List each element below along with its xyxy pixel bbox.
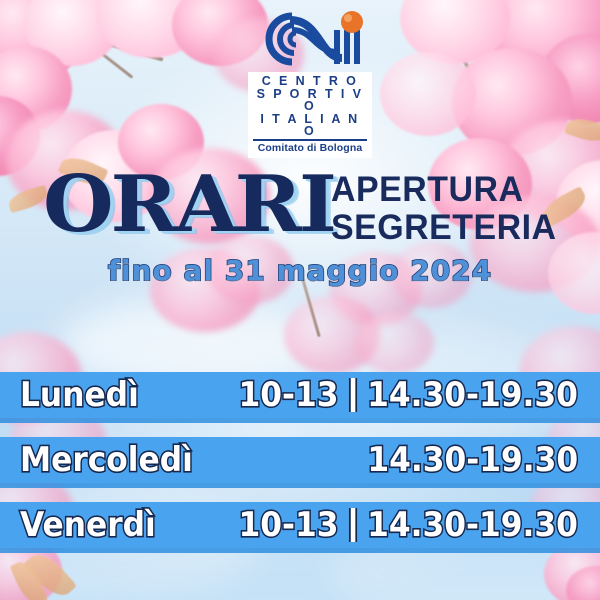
schedule-separator-icon xyxy=(349,508,357,542)
title-row: ORARI APERTURA SEGRETERIA xyxy=(0,168,600,245)
csi-line-centro: C E N T R O xyxy=(253,75,367,88)
title-block: ORARI APERTURA SEGRETERIA fino al 31 mag… xyxy=(0,168,600,286)
schedule-day-label: Lunedì xyxy=(20,378,139,412)
schedule-hours: 10-13 14.30-19.30 xyxy=(239,378,578,412)
schedule-morning-hours: 10-13 xyxy=(239,378,339,412)
schedule-separator-icon xyxy=(349,378,357,412)
validity-subtitle: fino al 31 maggio 2024 xyxy=(0,256,600,286)
csi-line-sportivo: S P O R T I V O xyxy=(253,88,367,113)
csi-wordmark-plate: C E N T R O S P O R T I V O I T A L I A … xyxy=(248,72,372,158)
title-apertura: APERTURA xyxy=(331,172,557,207)
schedule-row: Venerdì 10-13 14.30-19.30 xyxy=(0,502,600,548)
schedule-row: Lunedì 10-13 14.30-19.30 xyxy=(0,372,600,418)
title-secondary: APERTURA SEGRETERIA xyxy=(331,172,564,245)
blossom-cluster xyxy=(356,312,434,374)
schedule-day-label: Mercoledì xyxy=(20,443,193,477)
schedule-afternoon-hours: 14.30-19.30 xyxy=(367,378,578,412)
csi-committee-label: Comitato di Bologna xyxy=(253,142,367,154)
csi-monogram-icon xyxy=(248,8,372,70)
csi-line-italiano: I T A L I A N O xyxy=(253,113,367,138)
schedule-morning-hours: 10-13 xyxy=(239,508,339,542)
schedule-hours: 10-13 14.30-19.30 xyxy=(239,508,578,542)
divider xyxy=(253,139,367,141)
page-title: ORARI xyxy=(43,168,334,242)
schedule-afternoon-hours: 14.30-19.30 xyxy=(367,443,578,477)
schedule-list: Lunedì 10-13 14.30-19.30 Mercoledì 14.30… xyxy=(0,372,600,567)
blossom-cluster xyxy=(380,52,476,136)
orange-sphere-icon xyxy=(341,11,363,33)
schedule-hours: 14.30-19.30 xyxy=(367,443,578,477)
csi-logo: C E N T R O S P O R T I V O I T A L I A … xyxy=(248,8,372,158)
title-segreteria: SEGRETERIA xyxy=(331,210,557,245)
poster-canvas: C E N T R O S P O R T I V O I T A L I A … xyxy=(0,0,600,600)
schedule-row: Mercoledì 14.30-19.30 xyxy=(0,437,600,483)
schedule-day-label: Venerdì xyxy=(20,508,156,542)
schedule-afternoon-hours: 14.30-19.30 xyxy=(367,508,578,542)
